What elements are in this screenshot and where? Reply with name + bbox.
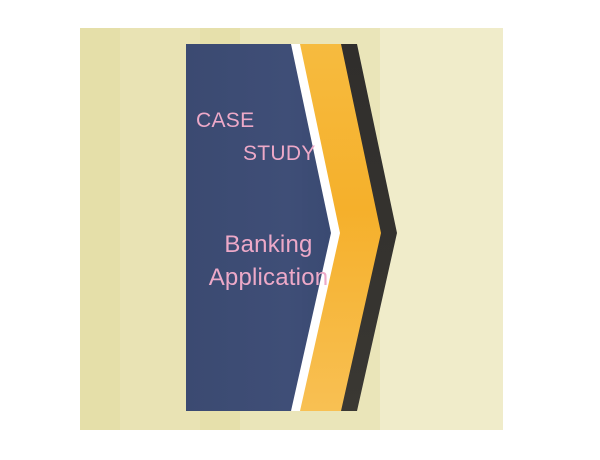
headline-line-1: CASE	[196, 104, 356, 137]
subtitle-line-2: Application	[196, 261, 341, 294]
headline-block: CASE STUDY	[196, 104, 356, 170]
subtitle-line-1: Banking	[196, 228, 341, 261]
subtitle-block: Banking Application	[196, 228, 386, 294]
slide-root: CASE STUDY Banking Application	[0, 0, 600, 460]
headline-line-2: STUDY	[196, 137, 356, 170]
